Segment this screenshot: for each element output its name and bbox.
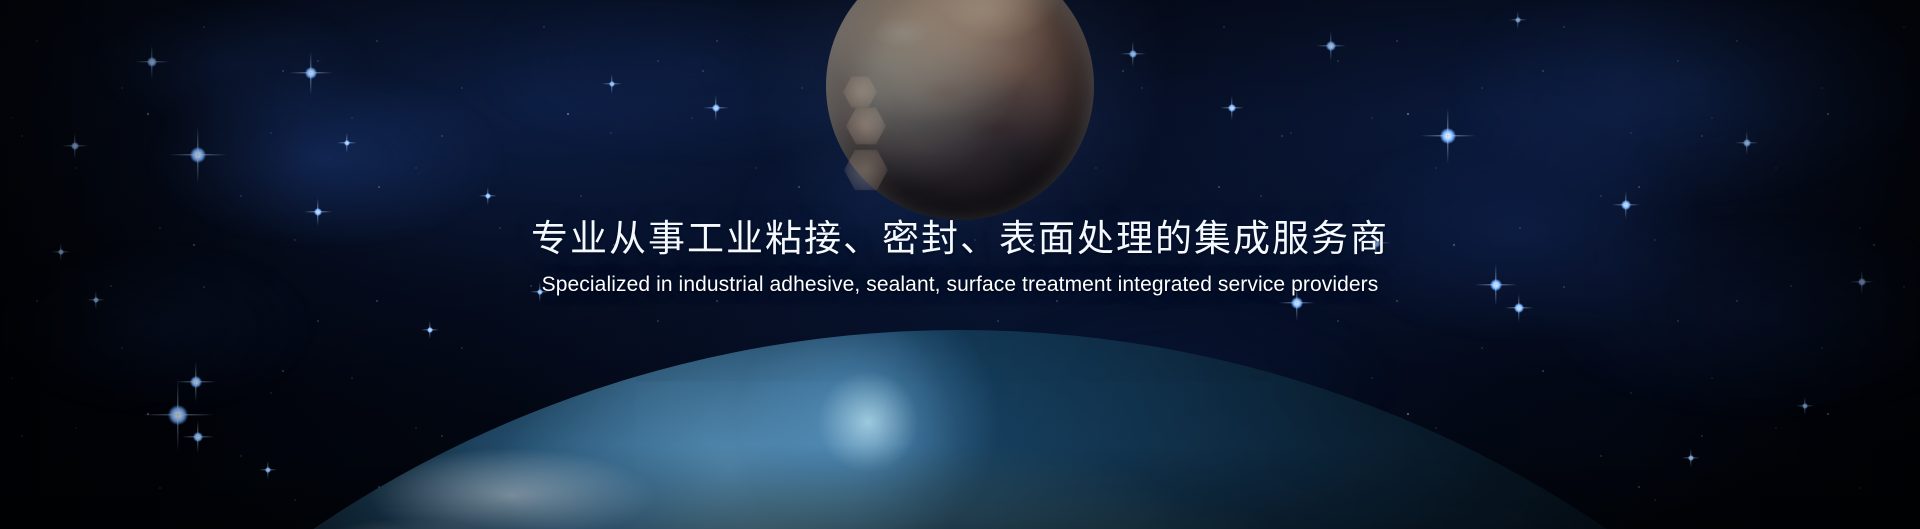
star-icon xyxy=(1326,41,1336,51)
earth-horizon xyxy=(0,330,1920,529)
star-icon xyxy=(1621,200,1631,210)
hero-banner: 专业从事工业粘接、密封、表面处理的集成服务商 Specialized in in… xyxy=(0,0,1920,529)
star-icon xyxy=(712,104,720,112)
headline-chinese: 专业从事工业粘接、密封、表面处理的集成服务商 xyxy=(0,218,1920,262)
star-icon xyxy=(1514,303,1524,313)
star-icon xyxy=(485,193,491,199)
star-icon xyxy=(344,140,350,146)
star-icon xyxy=(147,57,157,67)
star-icon xyxy=(1228,104,1236,112)
star-icon xyxy=(71,142,79,150)
subheadline-english: Specialized in industrial adhesive, seal… xyxy=(0,272,1920,298)
moon-planet xyxy=(826,0,1094,220)
star-icon xyxy=(305,67,318,80)
star-icon xyxy=(314,208,322,216)
star-icon xyxy=(1440,128,1456,144)
star-icon xyxy=(609,81,615,87)
star-icon xyxy=(1743,139,1751,147)
star-icon xyxy=(190,147,206,163)
star-icon xyxy=(1515,17,1521,23)
hero-copy-block: 专业从事工业粘接、密封、表面处理的集成服务商 Specialized in in… xyxy=(0,218,1920,298)
